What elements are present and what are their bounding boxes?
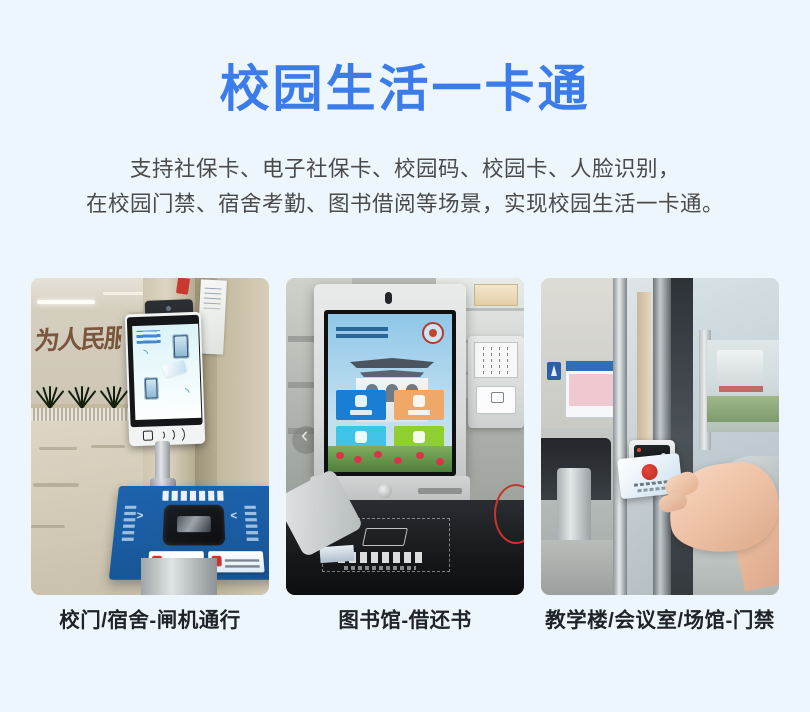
instruction-note	[474, 342, 518, 378]
card-graphic-icon	[162, 360, 186, 378]
knob-icon	[378, 484, 392, 498]
direction-sign-icon	[547, 362, 561, 380]
phone-icon	[172, 334, 189, 359]
national-emblem-icon	[641, 463, 659, 481]
wood-frame	[637, 292, 651, 442]
potted-plants	[35, 374, 131, 410]
wifi-wave-icon	[137, 348, 150, 361]
red-banner	[176, 278, 190, 295]
tile-return[interactable]	[394, 390, 444, 420]
scenario-card-gate-turnstile[interactable]: 为人民服务	[31, 278, 269, 595]
institution-seal-icon	[422, 322, 444, 344]
receipt-slot	[418, 488, 462, 494]
tile-borrow[interactable]	[336, 390, 386, 420]
camera-icon	[385, 292, 392, 304]
outdoor-building	[717, 350, 763, 384]
ceiling-lamp-secondary-icon	[103, 292, 145, 295]
phone-icon	[144, 377, 159, 399]
page-title: 校园生活一卡通	[0, 58, 810, 120]
flowerbed-illustration	[328, 446, 452, 472]
status-led-icon	[637, 448, 641, 452]
book-outline-icon	[362, 528, 408, 546]
turnstile-right-label	[244, 506, 259, 545]
arrow-right-icon: >	[136, 510, 144, 523]
turnstile-brand-text	[162, 491, 225, 501]
plant-icon	[35, 374, 65, 408]
door-mullion	[653, 278, 671, 595]
decorative-railing	[31, 408, 139, 422]
caption-row: 校门/宿舍-闸机通行 图书馆-借还书 教学楼/会议室/场馆-门禁	[31, 606, 779, 636]
door-edge-dark	[671, 278, 693, 595]
arrow-left-icon: <	[230, 510, 237, 523]
indoor-floor	[541, 540, 619, 595]
kiosk-screen[interactable]	[328, 314, 452, 472]
page-subtitle: 支持社保卡、电子社保卡、校园码、校园卡、人脸识别， 在校园门禁、宿舍考勤、图书借…	[0, 152, 810, 222]
terminal-screen	[132, 324, 201, 420]
screen-headline-text	[136, 330, 160, 344]
photo-door-access	[541, 278, 779, 595]
plant-icon	[67, 374, 97, 408]
caption-library-kiosk: 图书馆-借还书	[286, 606, 524, 636]
card-reader-pad[interactable]	[476, 386, 516, 414]
terminal-bezel	[127, 315, 203, 427]
kiosk-screen-frame	[324, 310, 456, 476]
plant-icon	[99, 374, 129, 408]
scenario-card-library-kiosk[interactable]	[286, 278, 524, 595]
caption-gate-turnstile: 校门/宿舍-闸机通行	[31, 606, 269, 636]
qr-scanner-window[interactable]	[162, 505, 225, 546]
turnstile-pedestal	[141, 558, 217, 595]
side-instruction-panel	[468, 336, 524, 428]
face-recognition-terminal[interactable]	[125, 312, 206, 447]
wall-poster	[474, 284, 518, 306]
photo-library-kiosk	[286, 278, 524, 595]
photo-gate-turnstile: 为人民服务	[31, 278, 269, 595]
door-mullion	[613, 278, 627, 595]
kiosk-body[interactable]	[314, 284, 466, 480]
outdoor-red-banner	[719, 386, 763, 392]
caption-door-access: 教学楼/会议室/场馆-门禁	[541, 606, 779, 636]
outdoor-hedge	[707, 396, 779, 422]
subtitle-line-1: 支持社保卡、电子社保卡、校园码、校园卡、人脸识别，	[0, 152, 810, 187]
wall-calligraphy: 为人民服务	[33, 319, 122, 358]
wifi-wave-icon	[179, 386, 192, 399]
card-subtitle-text	[637, 486, 665, 492]
scenario-card-door-access[interactable]	[541, 278, 779, 595]
page-root: 校园生活一卡通 支持社保卡、电子社保卡、校园码、校园卡、人脸识别， 在校园门禁、…	[0, 0, 810, 712]
screen-title-text	[336, 324, 388, 338]
scenario-card-list: 为人民服务	[31, 278, 779, 595]
turnstile-left-label	[121, 506, 136, 545]
ceiling-lamp-icon	[37, 300, 95, 304]
tray-instruction-subtext	[344, 566, 416, 570]
placed-book	[319, 545, 354, 563]
subtitle-line-2: 在校园门禁、宿舍考勤、图书借阅等场景，实现校园生活一卡通。	[0, 187, 810, 222]
